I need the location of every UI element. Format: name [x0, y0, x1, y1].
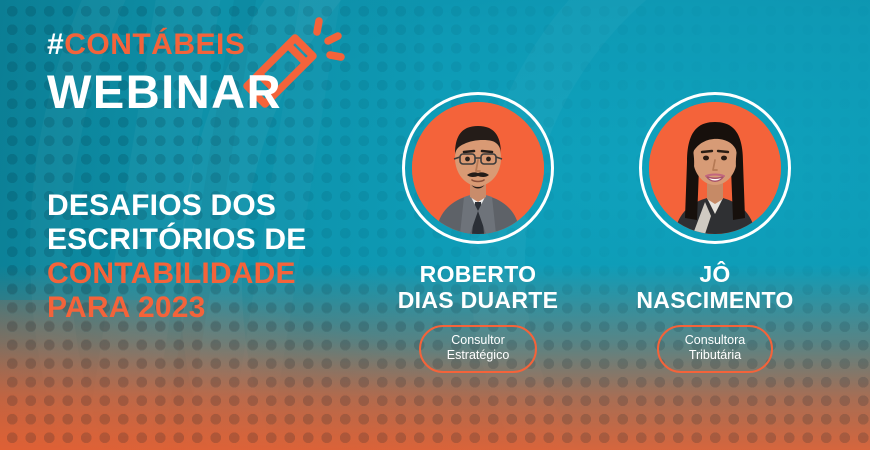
avatar-ring: [639, 92, 791, 244]
webinar-banner: #CONTÁBEIS WEBINAR DESAFIOS DOS ESCRITÓR…: [0, 0, 870, 450]
avatar: [412, 102, 544, 234]
headline-line-4: PARA 2023: [47, 291, 357, 325]
headline-line-2: ESCRITÓRIOS DE: [47, 223, 357, 257]
speaker-name: JÔ NASCIMENTO: [595, 262, 835, 314]
hash-word: CONTÁBEIS: [64, 28, 245, 61]
brand-logo-block: #CONTÁBEIS WEBINAR: [47, 30, 347, 140]
speaker-name: ROBERTO DIAS DUARTE: [358, 262, 598, 314]
status-badge: Consultora Tributária: [657, 325, 773, 373]
brand-wordmark: WEBINAR: [47, 68, 347, 115]
avatar-jo-nascimento: [649, 102, 781, 234]
headline-line-1: DESAFIOS DOS: [47, 189, 357, 223]
avatar-ring: [402, 92, 554, 244]
status-badge: Consultor Estratégico: [419, 325, 538, 373]
hash-symbol: #: [47, 28, 64, 61]
speaker-card-roberto: ROBERTO DIAS DUARTE Consultor Estratégic…: [358, 92, 598, 373]
headline-line-3: CONTABILIDADE: [47, 257, 357, 291]
avatar-roberto-dias-duarte: [412, 102, 544, 234]
avatar: [649, 102, 781, 234]
page-title: DESAFIOS DOS ESCRITÓRIOS DE CONTABILIDAD…: [47, 189, 357, 325]
speaker-card-jo: JÔ NASCIMENTO Consultora Tributária: [595, 92, 835, 373]
